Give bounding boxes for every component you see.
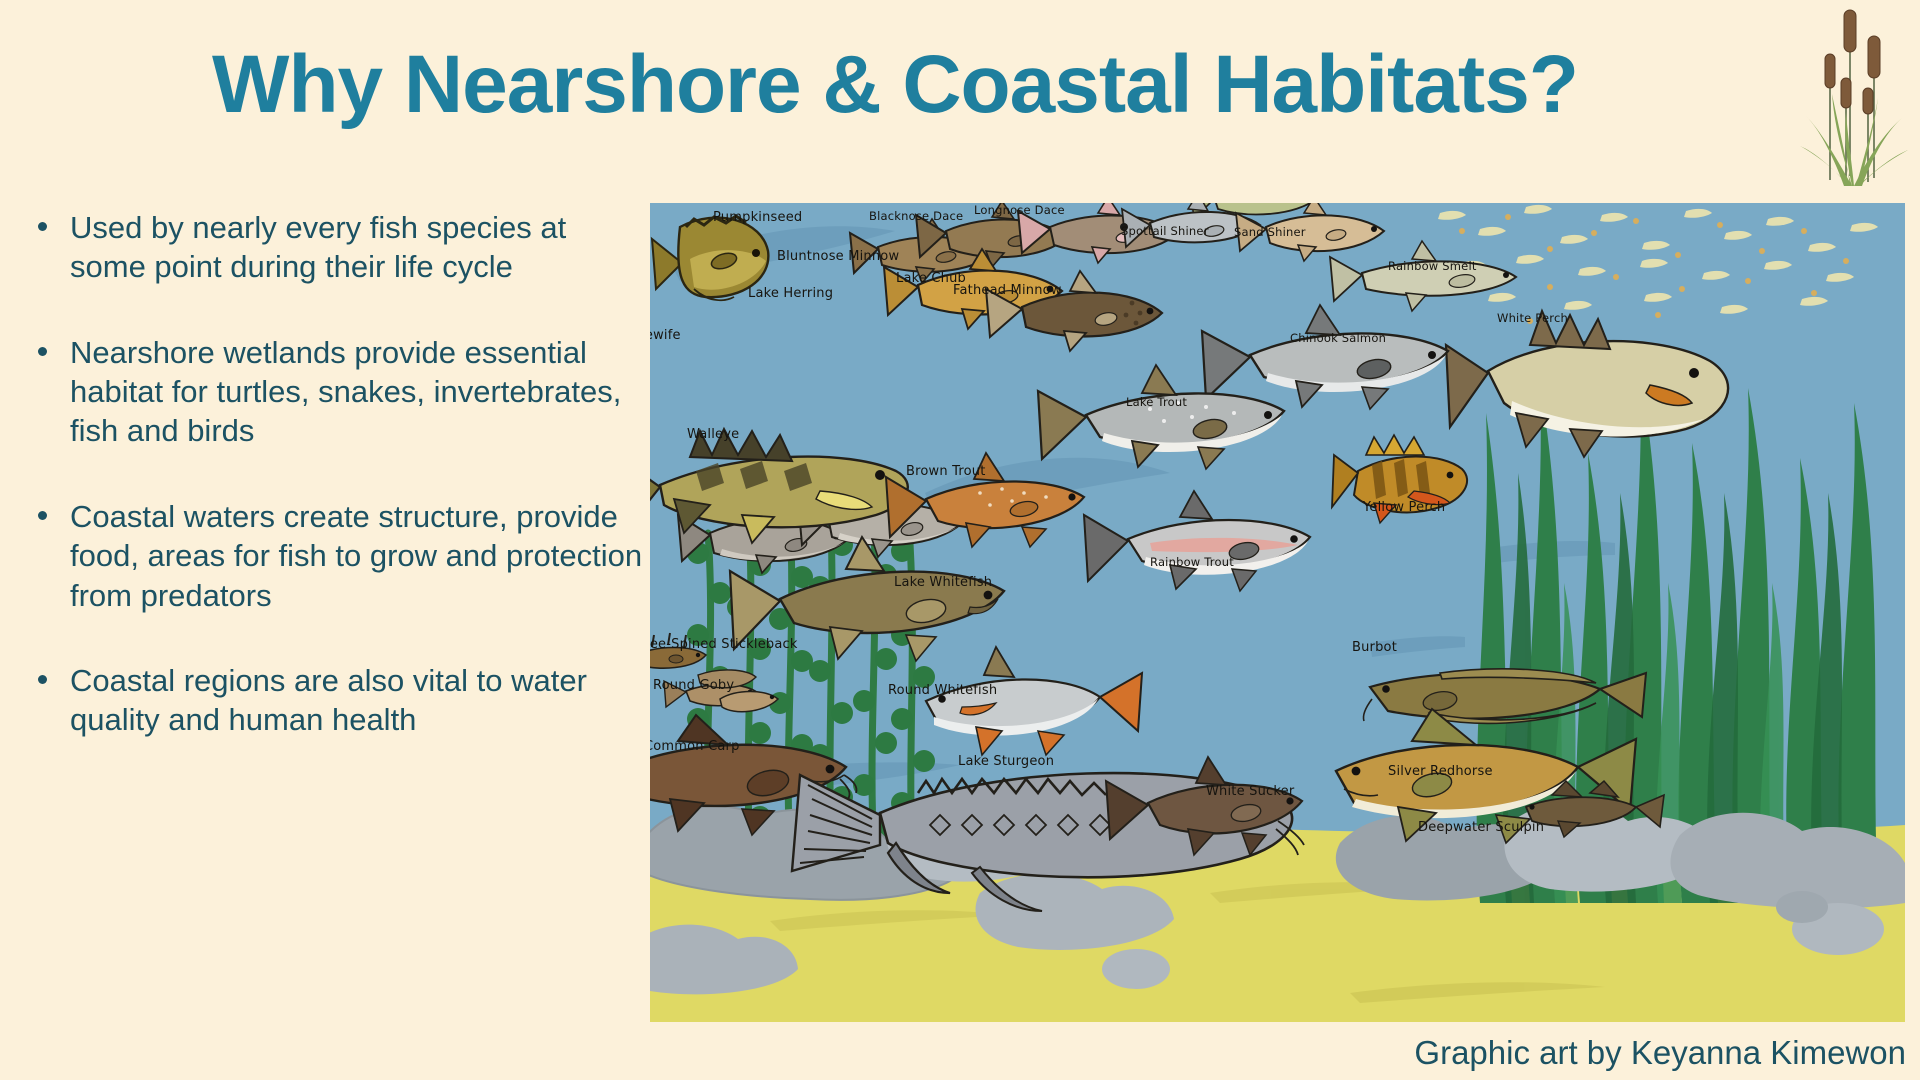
bullet-text: Coastal waters create structure, provide… [70, 499, 642, 613]
habitat-scene-svg [650, 203, 1905, 1022]
fish-habitat-illustration: Pumpkinseed Bluntnose Minnow Blacknose D… [650, 203, 1905, 1022]
bullet-list: Used by nearly every fish species at som… [26, 208, 646, 740]
bullet-item: Nearshore wetlands provide essential hab… [26, 333, 646, 451]
bullet-item: Used by nearly every fish species at som… [26, 208, 646, 287]
graphic-credit: Graphic art by Keyanna Kimewon [1414, 1034, 1906, 1072]
bullet-text: Coastal regions are also vital to water … [70, 663, 587, 737]
bullet-dot-icon [38, 347, 47, 356]
bullet-dot-icon [38, 222, 47, 231]
cattail-plant-decoration [1794, 0, 1914, 190]
bullet-item: Coastal waters create structure, provide… [26, 497, 646, 615]
bullet-text: Used by nearly every fish species at som… [70, 210, 566, 284]
cattail-icon [1794, 0, 1914, 190]
page-title: Why Nearshore & Coastal Habitats? [0, 42, 1790, 128]
bullet-item: Coastal regions are also vital to water … [26, 661, 646, 740]
bullet-dot-icon [38, 675, 47, 684]
bullet-dot-icon [38, 511, 47, 520]
bullet-text: Nearshore wetlands provide essential hab… [70, 335, 621, 449]
